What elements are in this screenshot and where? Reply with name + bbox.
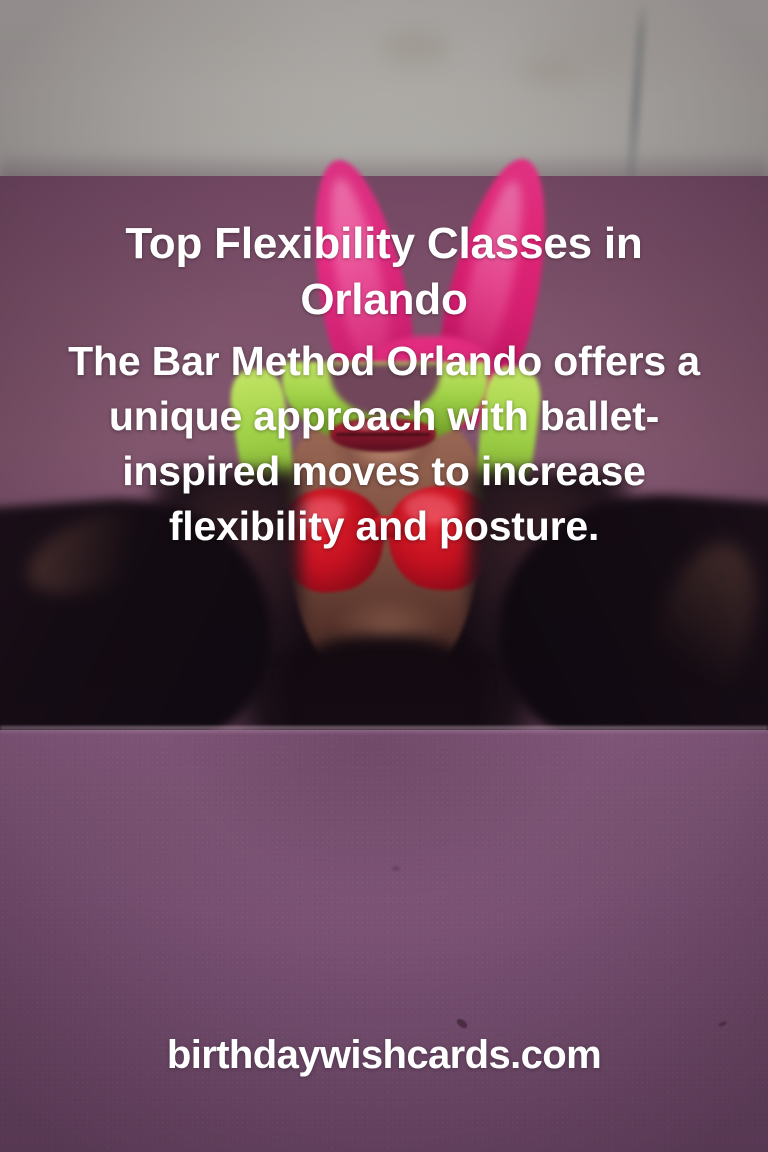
footer: birthdaywishcards.com <box>0 1031 768 1079</box>
text-overlay: Top Flexibility Classes in Orlando The B… <box>0 0 768 1152</box>
headline-block: Top Flexibility Classes in Orlando The B… <box>48 216 720 554</box>
page-title: Top Flexibility Classes in Orlando <box>48 216 720 328</box>
promo-card: Top Flexibility Classes in Orlando The B… <box>0 0 768 1152</box>
site-url-label[interactable]: birthdaywishcards.com <box>0 1031 768 1079</box>
page-subtitle: The Bar Method Orlando offers a unique a… <box>48 334 720 554</box>
